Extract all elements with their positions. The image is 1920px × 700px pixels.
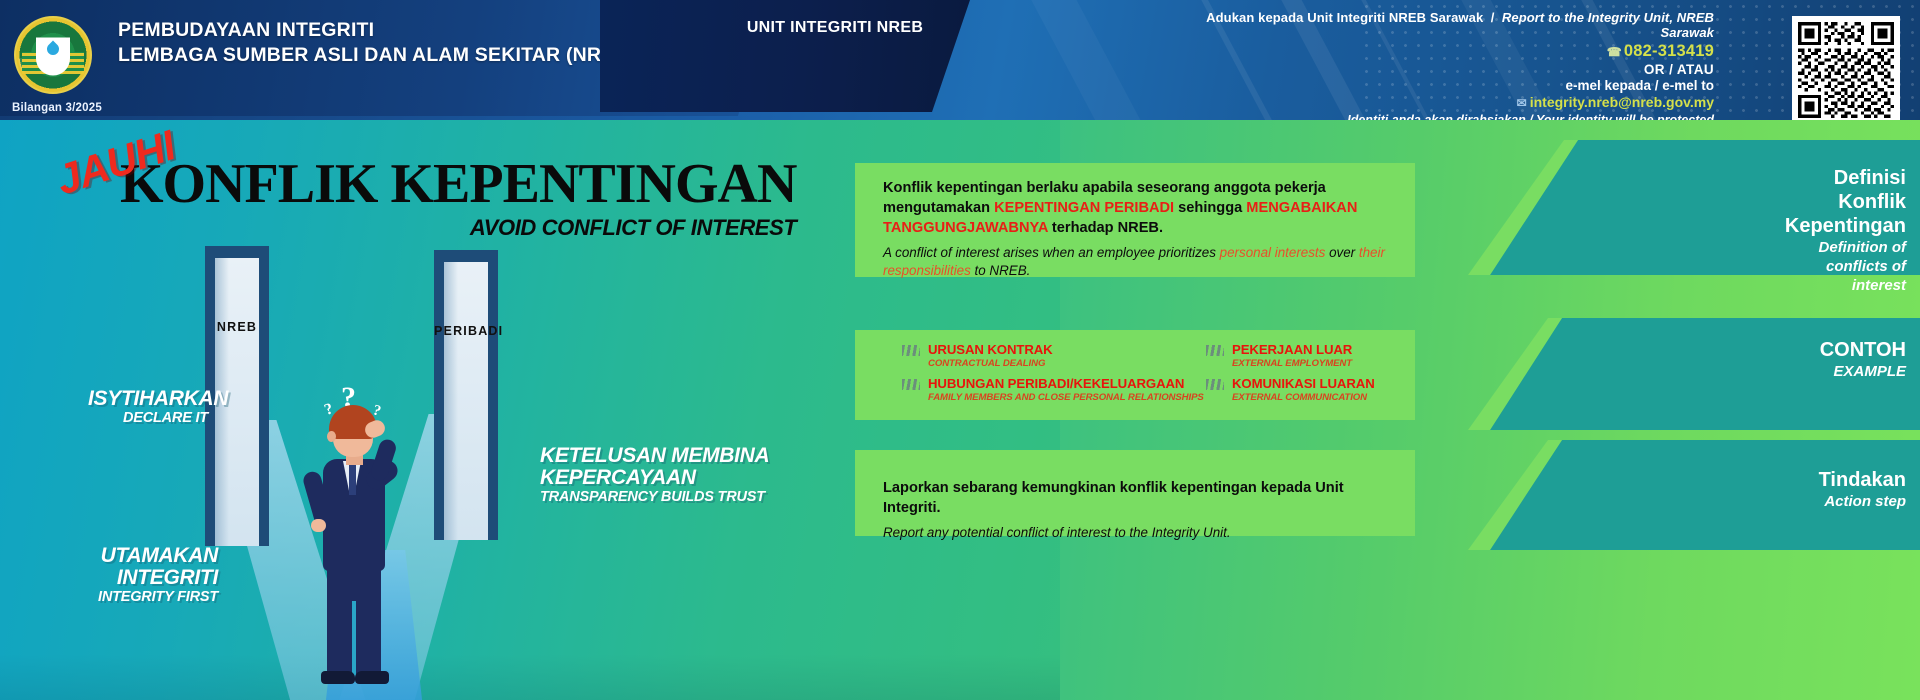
qr-code[interactable] bbox=[1792, 16, 1900, 124]
definition-en-a: A conflict of interest arises when an em… bbox=[883, 245, 1220, 260]
label-transparency-ms-line1: KETELUSAN MEMBINA bbox=[540, 445, 790, 467]
example-0-en: CONTRACTUAL DEALING bbox=[928, 358, 1053, 369]
tab-example-ms: CONTOH bbox=[1676, 338, 1906, 362]
header-report-line: Adukan kepada Unit Integriti NREB Sarawa… bbox=[1174, 10, 1714, 40]
header-or-label: OR / ATAU bbox=[1174, 62, 1714, 77]
action-ms-paragraph: Laporkan sebarang kemungkinan konflik ke… bbox=[883, 478, 1403, 518]
tab-definition-ms-3: Kepentingan bbox=[1676, 214, 1906, 238]
label-declare-ms: ISYTIHARKAN bbox=[88, 388, 208, 410]
label-transparency-en: TRANSPARENCY BUILDS TRUST bbox=[540, 489, 790, 505]
tab-definition-en-3: interest bbox=[1676, 276, 1906, 295]
definition-en-paragraph: A conflict of interest arises when an em… bbox=[883, 244, 1403, 280]
definition-ms-red1: KEPENTINGAN PERIBADI bbox=[994, 200, 1174, 216]
tab-action-en: Action step bbox=[1676, 492, 1906, 511]
example-0-ms: URUSAN KONTRAK bbox=[928, 342, 1053, 357]
header-issue-number: Bilangan 3/2025 bbox=[12, 102, 102, 114]
tab-example-en: EXAMPLE bbox=[1676, 362, 1906, 381]
header-report-ms: Adukan kepada Unit Integriti NREB Sarawa… bbox=[1206, 10, 1483, 25]
header-email-label: e-mel kepada / e-mel to bbox=[1174, 78, 1714, 93]
definition-ms-paragraph: Konflik kepentingan berlaku apabila sese… bbox=[883, 178, 1403, 238]
infographic-poster: PEMBUDAYAAN INTEGRITI LEMBAGA SUMBER ASL… bbox=[0, 0, 1920, 700]
nreb-logo-icon bbox=[14, 16, 92, 94]
header-org-title: PEMBUDAYAAN INTEGRITI LEMBAGA SUMBER ASL… bbox=[118, 18, 635, 68]
header-email-address: integrity.nreb@nreb.gov.my bbox=[1530, 94, 1714, 110]
door-nreb-label: NREB bbox=[205, 320, 269, 334]
label-declare-it: ISYTIHARKAN DECLARE IT bbox=[88, 388, 208, 426]
tab-definition-ms-1: Definisi bbox=[1676, 166, 1906, 190]
tab-definition-en-1: Definition of bbox=[1676, 238, 1906, 257]
label-declare-en: DECLARE IT bbox=[88, 410, 208, 426]
person-left-hand bbox=[311, 519, 326, 532]
tab-example-label: CONTOH EXAMPLE bbox=[1676, 338, 1906, 381]
definition-en-red1: personal interests bbox=[1220, 245, 1326, 260]
header-org-line2: LEMBAGA SUMBER ASLI DAN ALAM SEKITAR (NR… bbox=[118, 43, 635, 68]
person-shoe-left bbox=[321, 671, 355, 684]
header-mid-panel bbox=[600, 0, 970, 112]
example-2-ms: PEKERJAAN LUAR bbox=[1232, 342, 1352, 357]
label-integrity-first: UTAMAKAN INTEGRITI INTEGRITY FIRST bbox=[28, 545, 218, 605]
header-phone[interactable]: ☎082-313419 bbox=[1174, 42, 1714, 61]
label-integrity-ms: UTAMAKAN INTEGRITI bbox=[28, 545, 218, 589]
example-1-en: FAMILY MEMBERS AND CLOSE PERSONAL RELATI… bbox=[928, 392, 1204, 403]
example-3-ms: KOMUNIKASI LUARAN bbox=[1232, 376, 1375, 391]
person-illustration: ? ? ? bbox=[303, 387, 413, 700]
header-banner: PEMBUDAYAAN INTEGRITI LEMBAGA SUMBER ASL… bbox=[0, 0, 1920, 140]
header-phone-number: 082-313419 bbox=[1624, 42, 1714, 60]
dashes-icon bbox=[902, 345, 920, 356]
label-transparency: KETELUSAN MEMBINA KEPERCAYAAN TRANSPAREN… bbox=[540, 445, 790, 505]
person-tie bbox=[349, 465, 356, 495]
definition-en-b: over bbox=[1325, 245, 1359, 260]
tab-definition-ms-2: Konflik bbox=[1676, 190, 1906, 214]
example-3-en: EXTERNAL COMMUNICATION bbox=[1232, 392, 1375, 403]
person-shoe-right bbox=[355, 671, 389, 684]
tab-definition-en-2: conflicts of bbox=[1676, 257, 1906, 276]
label-integrity-en: INTEGRITY FIRST bbox=[28, 589, 218, 605]
example-2-en: EXTERNAL EMPLOYMENT bbox=[1232, 358, 1352, 369]
card-action-text: Laporkan sebarang kemungkinan konflik ke… bbox=[883, 478, 1403, 542]
example-1-ms: HUBUNGAN PERIBADI/KEKELUARGAAN bbox=[928, 376, 1204, 391]
definition-en-c: to NREB. bbox=[971, 263, 1031, 278]
door-peribadi-label: PERIBADI bbox=[434, 324, 498, 338]
label-transparency-ms-line2: KEPERCAYAAN bbox=[540, 467, 790, 489]
door-peribadi: PERIBADI bbox=[434, 250, 498, 540]
person-leg-gap bbox=[352, 601, 356, 675]
dashes-icon bbox=[1206, 345, 1224, 356]
header-unit-title: UNIT INTEGRITI NREB bbox=[700, 19, 970, 37]
dashes-icon bbox=[1206, 379, 1224, 390]
dashes-icon bbox=[902, 379, 920, 390]
definition-ms-c: terhadap NREB. bbox=[1048, 220, 1163, 236]
definition-ms-b: sehingga bbox=[1174, 200, 1246, 216]
tab-action-label: Tindakan Action step bbox=[1676, 468, 1906, 511]
tab-definition-label: Definisi Konflik Kepentingan Definition … bbox=[1676, 166, 1906, 295]
person-ear bbox=[327, 431, 336, 442]
envelope-icon: ✉ bbox=[1517, 96, 1527, 110]
header-org-line1: PEMBUDAYAAN INTEGRITI bbox=[118, 18, 635, 43]
phone-icon: ☎ bbox=[1607, 45, 1622, 59]
header-report-en: Report to the Integrity Unit, NREB Saraw… bbox=[1502, 10, 1714, 40]
card-definition-text: Konflik kepentingan berlaku apabila sese… bbox=[883, 178, 1403, 280]
tab-action-ms: Tindakan bbox=[1676, 468, 1906, 492]
header-email[interactable]: ✉integrity.nreb@nreb.gov.my bbox=[1174, 94, 1714, 110]
action-en-paragraph: Report any potential conflict of interes… bbox=[883, 524, 1403, 542]
qr-code-icon bbox=[1798, 22, 1894, 118]
header-contact-block: Adukan kepada Unit Integriti NREB Sarawa… bbox=[1174, 10, 1714, 127]
